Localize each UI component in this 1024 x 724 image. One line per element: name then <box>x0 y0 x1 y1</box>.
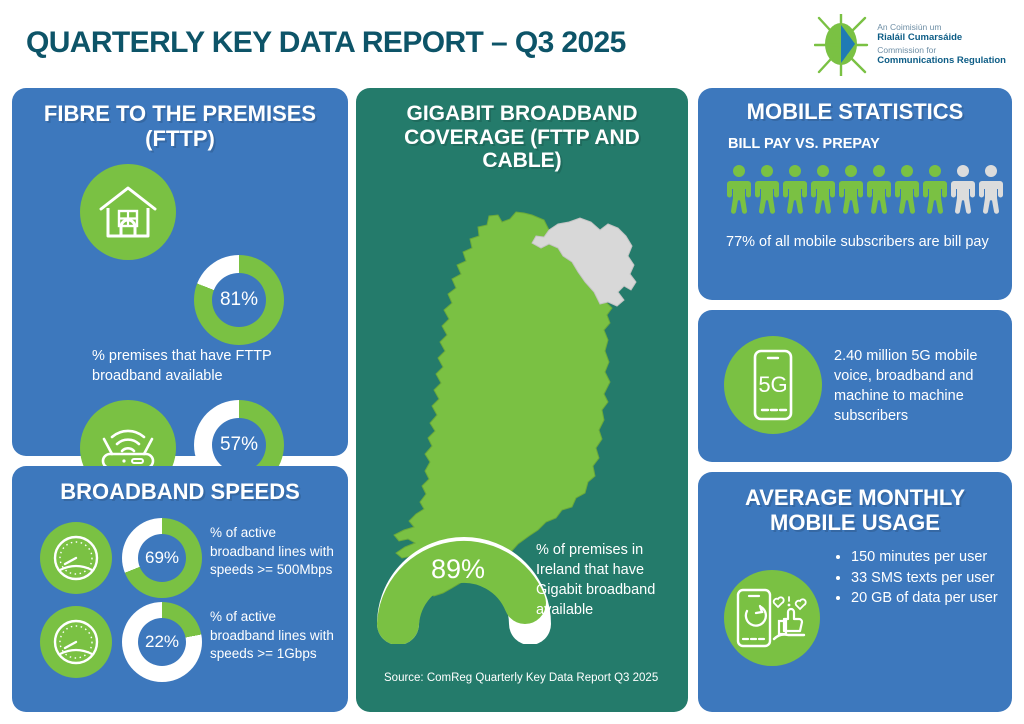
gigabit-source: Source: ComReg Quarterly Key Data Report… <box>384 672 674 684</box>
speedometer-icon-circle-1gbps <box>40 606 112 678</box>
panel-broadband-speeds: BROADBAND SPEEDS 69% % of active broadba… <box>12 466 348 712</box>
logo-line-1: An Coimisiún um <box>877 22 1006 32</box>
gigabit-title: GIGABIT BROADBAND COVERAGE (FTTP AND CAB… <box>376 102 668 173</box>
donut-fttp-lines-value: 57% <box>212 418 266 472</box>
five-g-caption: 2.40 million 5G mobile voice, broadband … <box>834 346 1002 426</box>
speed-500mbps-caption: % of active broadband lines with speeds … <box>210 524 342 580</box>
person-icon <box>726 164 752 214</box>
five-g-icon-label: 5G <box>758 372 787 397</box>
broadband-speeds-title: BROADBAND SPEEDS <box>22 480 338 505</box>
person-icon <box>922 164 948 214</box>
fttp-title: FIBRE TO THE PREMISES (FTTP) <box>30 102 330 151</box>
person-icon <box>894 164 920 214</box>
average-usage-bullet: 150 minutes per user <box>851 548 1023 568</box>
pictogram-billpay-prepay <box>726 164 1004 214</box>
comreg-logo: An Coimisiún um Rialáil Cumarsáide Commi… <box>814 14 1006 76</box>
mobile-statistics-caption: 77% of all mobile subscribers are bill p… <box>726 232 994 252</box>
donut-speed-500mbps: 69% <box>122 518 202 598</box>
person-icon <box>810 164 836 214</box>
donut-speed-1gbps-value: 22% <box>138 618 186 666</box>
comreg-logo-icon <box>814 14 870 76</box>
panel-average-monthly-usage: AVERAGE MONTHLY MOBILE USAGE 150 minutes… <box>698 472 1012 712</box>
panel-gigabit-coverage: GIGABIT BROADBAND COVERAGE (FTTP AND CAB… <box>356 88 688 712</box>
donut-fttp-premises-value: 81% <box>212 273 266 327</box>
mobile-5g-icon: 5G <box>744 347 802 423</box>
speed-1gbps-caption: % of active broadband lines with speeds … <box>210 608 342 664</box>
phone-engagement-icon <box>734 587 810 649</box>
logo-line-2: Rialáil Cumarsáide <box>877 32 1006 43</box>
average-usage-title: AVERAGE MONTHLY MOBILE USAGE <box>716 486 994 535</box>
house-icon <box>97 182 159 242</box>
panel-mobile-statistics: MOBILE STATISTICS BILL PAY VS. PREPAY 77… <box>698 88 1012 300</box>
fttp-premises-caption: % premises that have FTTP broadband avai… <box>92 346 322 386</box>
speedometer-icon <box>50 533 102 583</box>
panel-5g: 5G 2.40 million 5G mobile voice, broadba… <box>698 310 1012 462</box>
mobile-statistics-subtitle: BILL PAY VS. PREPAY <box>728 136 880 152</box>
person-icon <box>866 164 892 214</box>
logo-line-3: Commission for <box>877 45 1006 55</box>
person-icon <box>950 164 976 214</box>
page-header: QUARTERLY KEY DATA REPORT – Q3 2025 An C… <box>0 0 1024 88</box>
panel-fttp: FIBRE TO THE PREMISES (FTTP) 81% % premi… <box>12 88 348 456</box>
person-icon <box>754 164 780 214</box>
average-usage-bullet: 33 SMS texts per user <box>851 569 1023 589</box>
logo-line-4: Communications Regulation <box>877 55 1006 66</box>
donut-speed-500mbps-value: 69% <box>138 534 186 582</box>
average-usage-bullet: 20 GB of data per user <box>851 589 1023 609</box>
donut-fttp-premises: 81% <box>194 255 284 345</box>
five-g-icon-circle: 5G <box>724 336 822 434</box>
average-usage-bullet-list: 150 minutes per user33 SMS texts per use… <box>834 548 1023 610</box>
donut-speed-1gbps: 22% <box>122 602 202 682</box>
speedometer-icon <box>50 617 102 667</box>
house-icon-circle <box>80 164 176 260</box>
gauge-gigabit-value: 89% <box>431 554 485 584</box>
person-icon <box>978 164 1004 214</box>
person-icon <box>838 164 864 214</box>
gauge-gigabit-premises: 89% <box>374 532 554 644</box>
gigabit-gauge-caption: % of premises in Ireland that have Gigab… <box>536 540 682 620</box>
speedometer-icon-circle-500 <box>40 522 112 594</box>
page-title: QUARTERLY KEY DATA REPORT – Q3 2025 <box>26 26 626 60</box>
mobile-statistics-title: MOBILE STATISTICS <box>710 100 1000 125</box>
person-icon <box>782 164 808 214</box>
phone-engagement-icon-circle <box>724 570 820 666</box>
